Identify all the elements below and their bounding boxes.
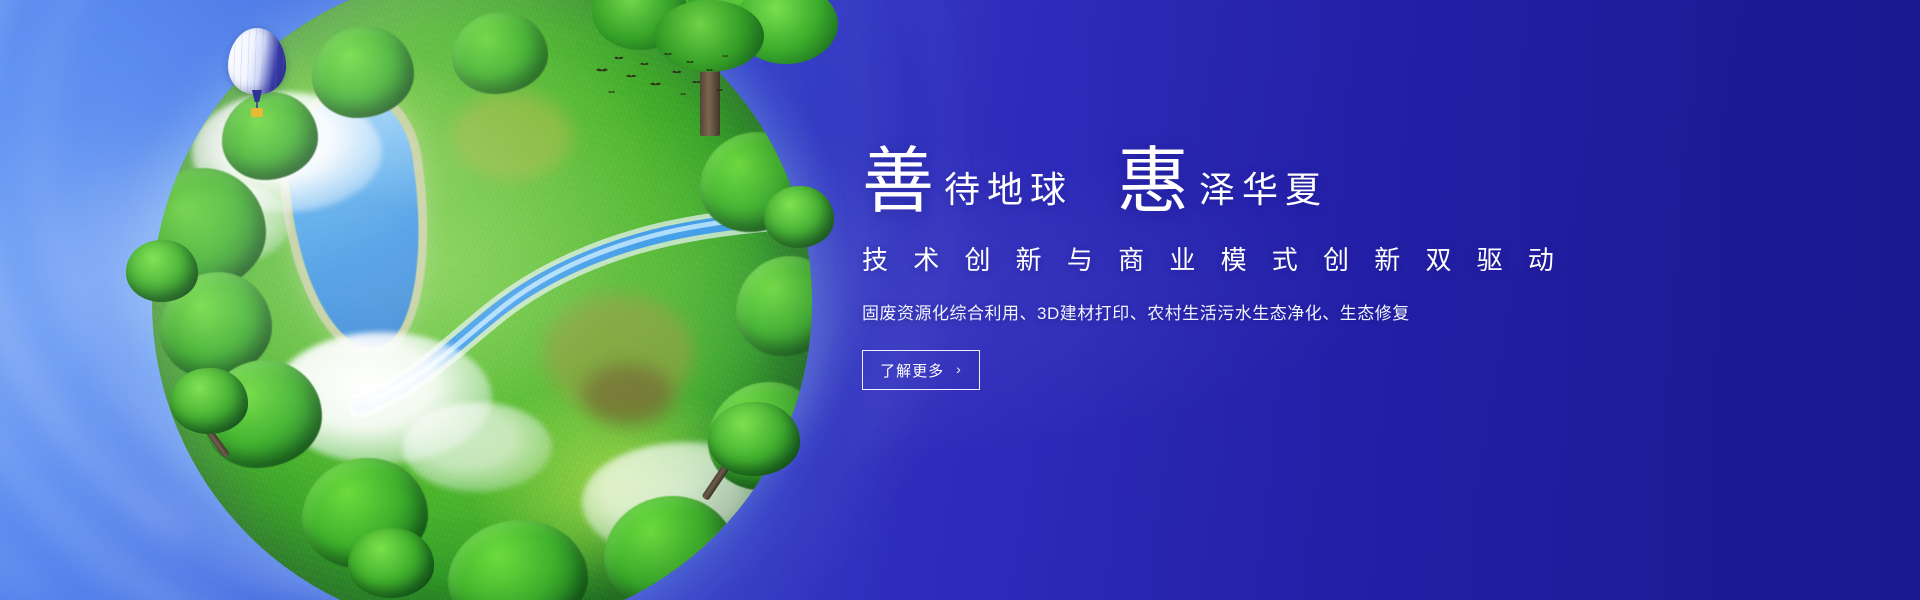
page-title: 善 待地球 惠 泽华夏 — [862, 128, 1502, 214]
tagline: 技 术 创 新 与 商 业 模 式 创 新 双 驱 动 — [862, 240, 1502, 277]
headline-lead-char-two: 惠 — [1117, 146, 1189, 218]
headline-phrase-one: 善 待地球 — [862, 142, 1073, 214]
headline-rest-chars-two: 泽华夏 — [1199, 172, 1328, 208]
headline-phrase-two: 惠 泽华夏 — [1117, 142, 1328, 214]
description-text: 固废资源化综合利用、3D建材打印、农村生活污水生态净化、生态修复 — [862, 299, 1502, 324]
learn-more-label: 了解更多 — [880, 360, 944, 381]
headline-lead-char-one: 善 — [862, 146, 934, 218]
hero-banner: 善 待地球 惠 泽华夏 技 术 创 新 与 商 业 模 式 创 新 双 驱 动 … — [0, 0, 1920, 600]
learn-more-button[interactable]: 了解更多 › — [862, 350, 980, 390]
hero-copy: 善 待地球 惠 泽华夏 技 术 创 新 与 商 业 模 式 创 新 双 驱 动 … — [862, 128, 1502, 390]
chevron-right-icon: › — [956, 361, 962, 377]
headline-rest-chars-one: 待地球 — [944, 172, 1073, 208]
